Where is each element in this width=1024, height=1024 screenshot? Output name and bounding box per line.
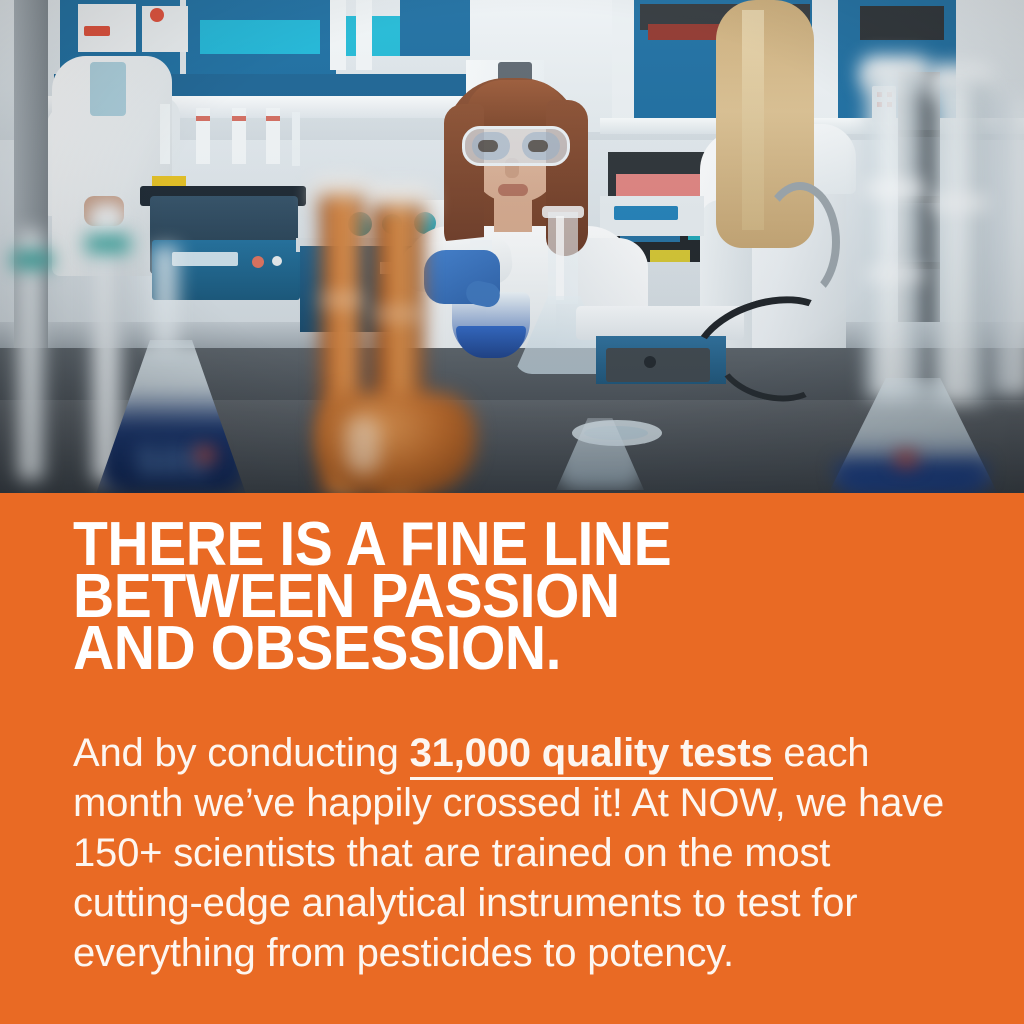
orange-text-panel: THERE IS A FINE LINE BETWEEN PASSION AND… — [0, 493, 1024, 1024]
body-paragraph: And by conducting 31,000 quality tests e… — [73, 728, 953, 978]
photo-vignette — [0, 0, 1024, 493]
body-text-before: And by conducting — [73, 731, 410, 775]
page-title: THERE IS A FINE LINE BETWEEN PASSION AND… — [73, 519, 901, 675]
lab-photo: 500 — [0, 0, 1024, 493]
promo-graphic: 500 THERE IS A FINE LINE BETWEEN PASSION… — [0, 0, 1024, 1024]
quality-tests-emphasis: 31,000 quality tests — [410, 731, 773, 780]
